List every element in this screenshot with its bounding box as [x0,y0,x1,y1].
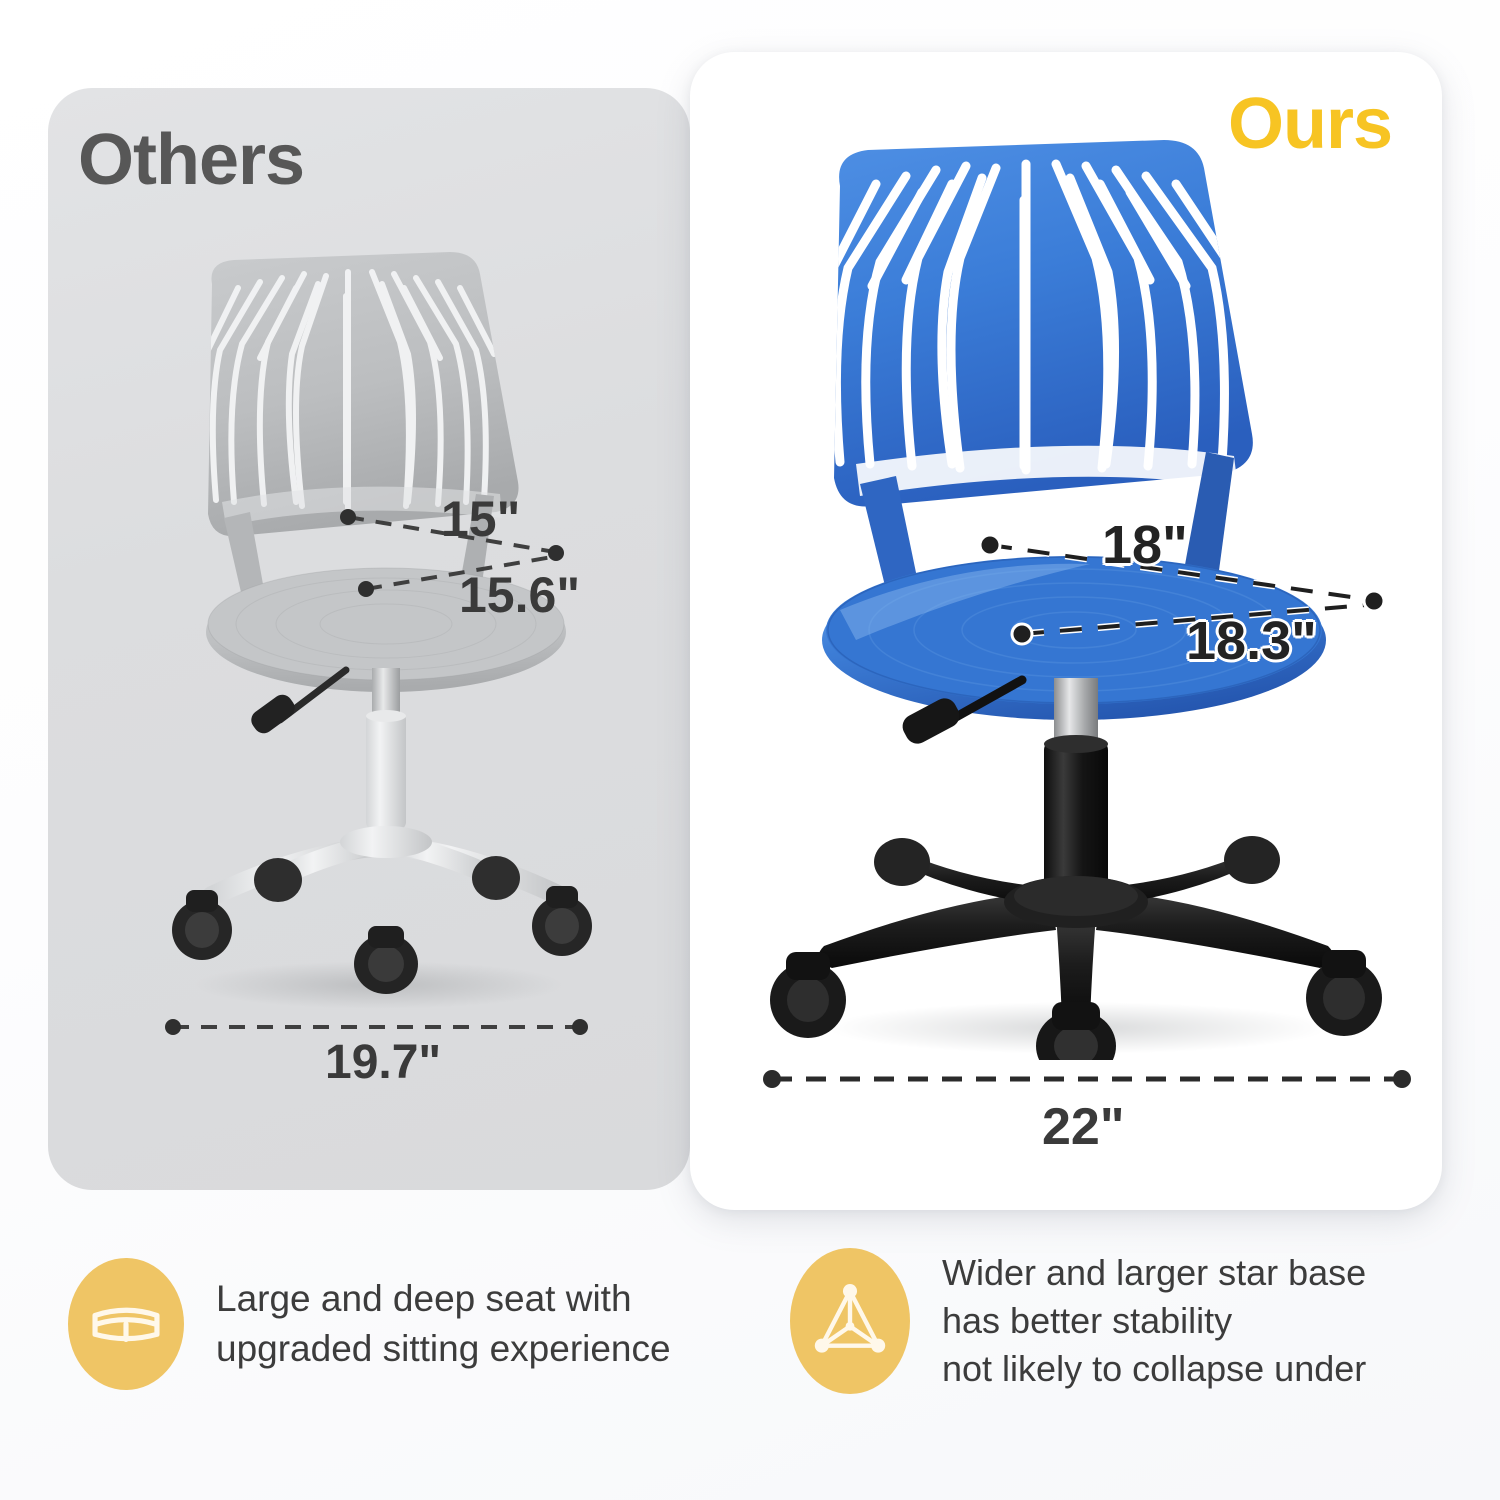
others-base-width-label: 19.7" [325,1039,441,1087]
ours-chair-image [760,140,1420,1060]
ours-seat-depth-label: 18" [1102,518,1188,572]
feature-seat: Large and deep seat with upgraded sittin… [68,1258,671,1390]
feature-seat-text: Large and deep seat with upgraded sittin… [216,1274,671,1373]
feature-base-text: Wider and larger star base has better st… [942,1249,1366,1393]
feature-base: Wider and larger star base has better st… [790,1248,1366,1394]
seat-cushion-icon [68,1258,184,1390]
ours-base-width-label: 22" [1042,1101,1125,1153]
others-chair-image [150,250,620,1010]
star-base-tripod-icon [790,1248,910,1394]
others-panel-title: Others [78,124,304,196]
others-seat-depth-label: 15" [441,494,520,544]
others-seat-width-label: 15.6" [459,570,580,620]
ours-seat-width-label: 18.3" [1186,614,1317,668]
